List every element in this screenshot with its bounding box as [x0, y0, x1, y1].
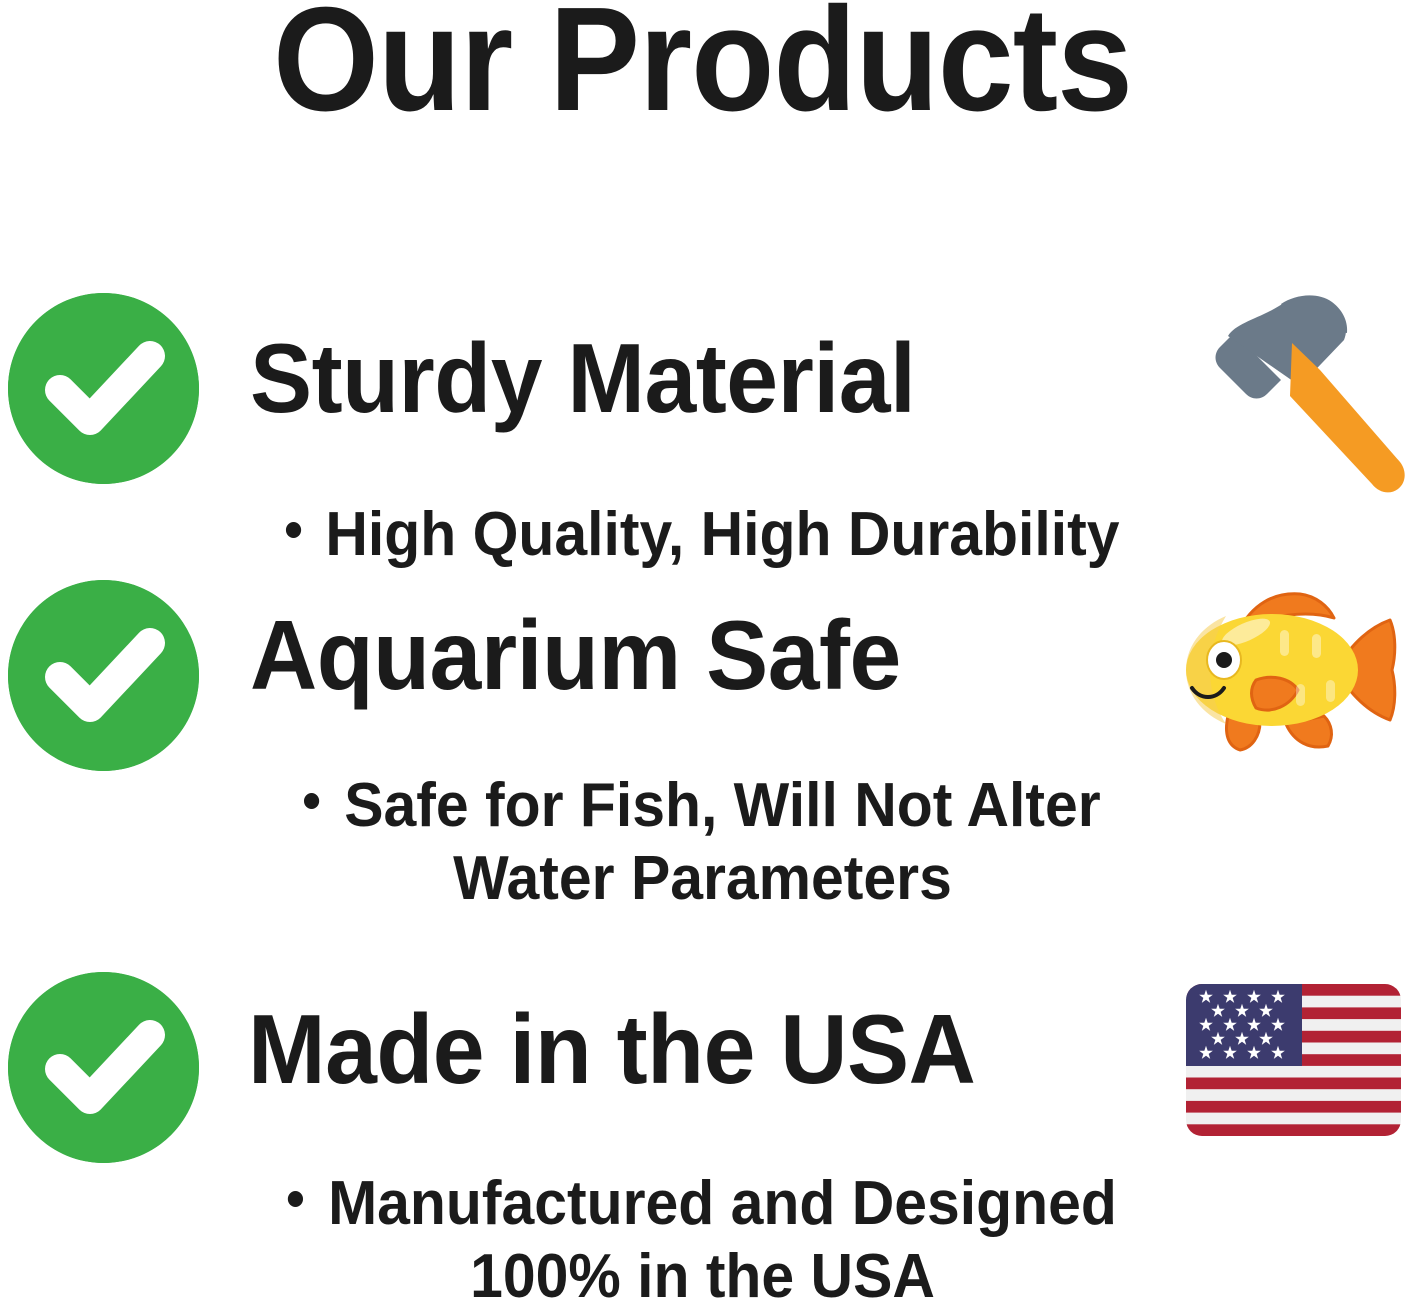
bullet-text: 100% in the USA — [470, 1242, 935, 1311]
bullet-line-continuation: 100% in the USA — [35, 1241, 1370, 1314]
feature-header: Sturdy Material — [0, 293, 1405, 493]
feature-bullets: Safe for Fish, Will Not Alter Water Para… — [0, 770, 1405, 915]
bullet-line: Manufactured and Designed — [35, 1168, 1370, 1241]
bullet-text: Manufactured and Designed — [328, 1169, 1117, 1238]
feature-title: Made in the USA — [248, 1000, 975, 1098]
feature-bullets: High Quality, High Durability — [0, 499, 1405, 572]
bullet-line: Safe for Fish, Will Not Alter — [35, 770, 1370, 843]
hammer-icon — [1184, 290, 1405, 495]
feature-header: Aquarium Safe — [0, 580, 1405, 780]
feature-block-made-in-usa: Made in the USA — [0, 972, 1405, 1172]
check-circle-icon — [8, 293, 199, 484]
bullet-text: Water Parameters — [453, 844, 952, 913]
bullet-line-continuation: Water Parameters — [35, 843, 1370, 916]
bullet-line: High Quality, High Durability — [35, 499, 1370, 572]
feature-block-sturdy-material: Sturdy Material High Quality, High Durab… — [0, 293, 1405, 493]
bullet-text: High Quality, High Durability — [325, 500, 1119, 569]
page-title: Our Products — [56, 0, 1349, 134]
bullet-dot-icon — [288, 1191, 303, 1207]
feature-title: Aquarium Safe — [250, 606, 901, 704]
feature-bullets: Manufactured and Designed 100% in the US… — [0, 1168, 1405, 1313]
bullet-text: Safe for Fish, Will Not Alter — [344, 771, 1100, 840]
us-flag-icon — [1186, 984, 1401, 1136]
feature-header: Made in the USA — [0, 972, 1405, 1172]
product-features-page: Our Products Sturdy Material — [0, 0, 1405, 1314]
feature-block-aquarium-safe: Aquarium Safe — [0, 580, 1405, 780]
feature-title: Sturdy Material — [250, 329, 915, 427]
bullet-dot-icon — [304, 793, 319, 809]
bullet-dot-icon — [285, 522, 300, 538]
check-circle-icon — [8, 972, 199, 1163]
tropical-fish-icon — [1168, 588, 1404, 753]
check-circle-icon — [8, 580, 199, 771]
